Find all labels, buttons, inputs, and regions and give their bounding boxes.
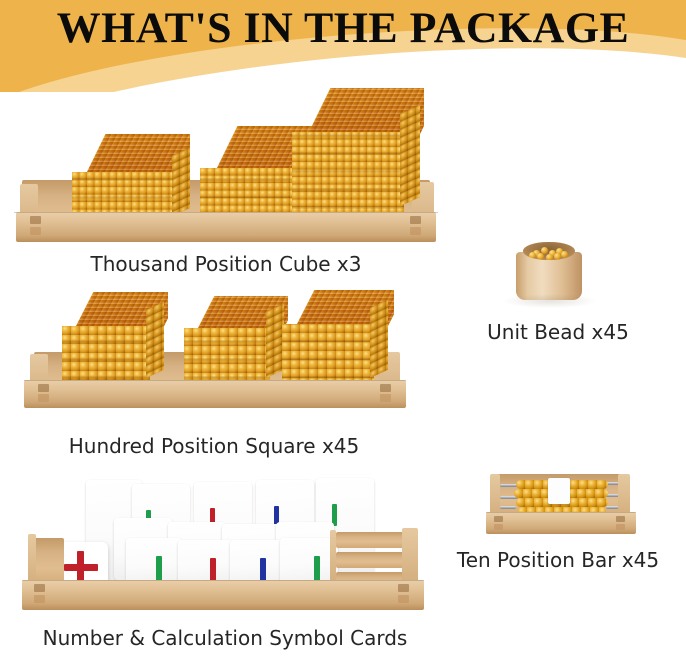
cube-side-face: [400, 105, 420, 206]
caption-thousand-cube: Thousand Position Cube x3: [14, 252, 438, 276]
dovetail-joint: [30, 216, 41, 224]
tray-front-rail: [16, 212, 436, 242]
dovetail-joint: [410, 216, 421, 224]
box-front-rail: [486, 512, 636, 534]
symbol-cards-tray: [22, 476, 424, 616]
stack-side-face: [370, 300, 388, 378]
tray-compartment: [336, 532, 406, 548]
bead-wire: [500, 506, 516, 509]
tray-right-wall: [402, 528, 418, 588]
tray-front-rail: [22, 580, 424, 610]
dovetail-joint: [34, 595, 45, 603]
dovetail-joint: [616, 524, 625, 530]
hundred-square-stack-1: [62, 292, 168, 394]
thousand-cube-3: [292, 88, 424, 226]
dovetail-joint: [410, 227, 421, 235]
caption-unit-bead: Unit Bead x45: [452, 320, 664, 344]
dovetail-joint: [34, 584, 45, 592]
dovetail-joint: [38, 384, 49, 392]
thousand-cube-tray: [14, 96, 438, 246]
caption-symbol-cards: Number & Calculation Symbol Cards: [10, 626, 440, 650]
unit-bead-cup: [516, 238, 582, 300]
cube-front-face: [292, 132, 404, 224]
dovetail-joint: [380, 384, 391, 392]
tray-front-rail: [24, 380, 406, 408]
tray-compartment: [336, 552, 408, 568]
caption-ten-bar: Ten Position Bar x45: [440, 548, 676, 572]
dovetail-joint: [38, 394, 49, 402]
dovetail-joint: [616, 516, 625, 522]
hundred-square-tray: [24, 284, 406, 416]
dovetail-joint: [494, 516, 503, 522]
header-banner: WHAT'S IN THE PACKAGE: [0, 0, 686, 92]
ten-bar-box: [486, 466, 636, 538]
dovetail-joint: [494, 524, 503, 530]
cube-side-face: [172, 148, 190, 216]
dovetail-joint: [30, 227, 41, 235]
stack-side-face: [146, 302, 164, 378]
caption-hundred-square: Hundred Position Square x45: [14, 434, 414, 458]
cup-opening: [523, 242, 574, 261]
dovetail-joint: [380, 394, 391, 402]
hundred-square-stack-3: [282, 290, 394, 394]
dovetail-joint: [398, 584, 409, 592]
box-label-card: [548, 478, 570, 504]
dovetail-joint: [398, 595, 409, 603]
page-title: WHAT'S IN THE PACKAGE: [0, 4, 686, 53]
package-contents-infographic: WHAT'S IN THE PACKAGE: [0, 0, 686, 662]
